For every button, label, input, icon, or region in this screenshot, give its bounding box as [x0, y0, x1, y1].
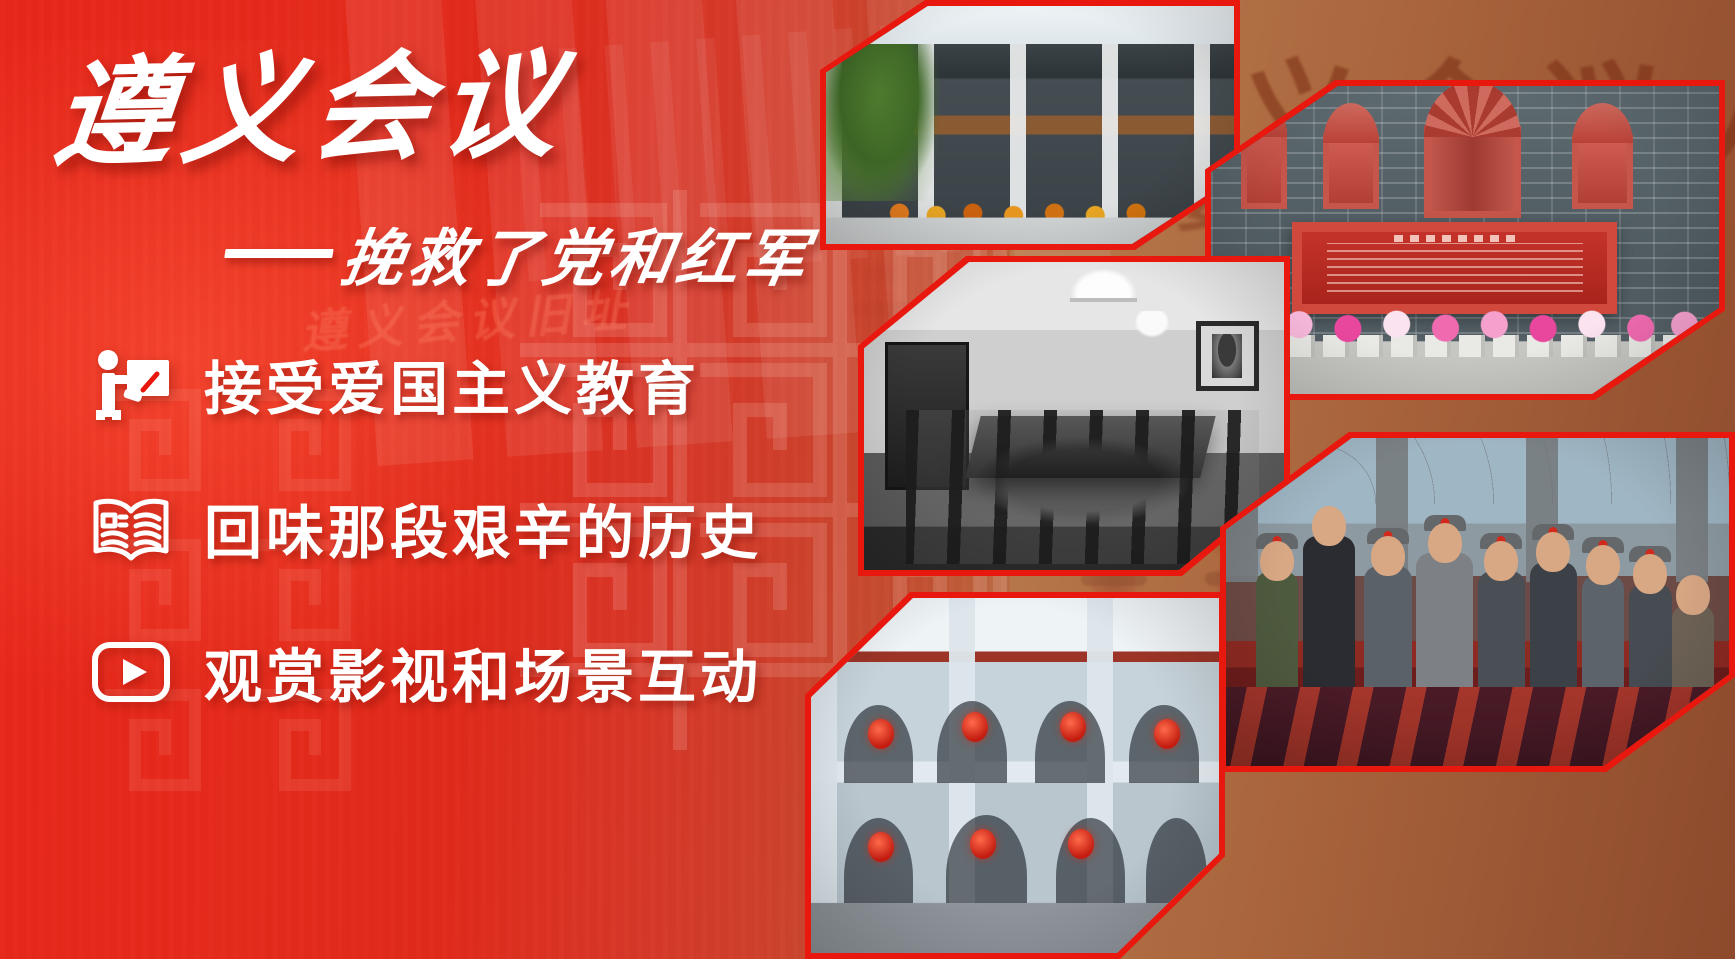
feature-item-education[interactable]: 接受爱国主义教育: [88, 336, 762, 432]
hex-site-courtyard[interactable]: [805, 592, 1225, 959]
feature-item-video[interactable]: 观赏影视和场景互动: [88, 624, 762, 720]
feature-label: 观赏影视和场景互动: [204, 630, 762, 714]
play-video-icon: [88, 633, 174, 711]
subtitle-dash-rule: [224, 249, 333, 258]
banner-subtitle: 挽救了党和红军: [218, 208, 819, 298]
hex-zunyi-conference-site[interactable]: [820, 0, 1240, 250]
feature-item-history[interactable]: 回味那段艰辛的历史: [88, 480, 762, 576]
zunyi-conference-banner: 义会议人 委员 各: [0, 0, 1735, 959]
hex-leaders-painting[interactable]: [1220, 432, 1735, 772]
presenter-board-icon: [88, 345, 174, 423]
feature-list: 接受爱国主义教育: [88, 336, 762, 720]
feature-label: 回味那段艰辛的历史: [204, 486, 762, 570]
feature-label: 接受爱国主义教育: [204, 342, 700, 426]
open-book-icon: [88, 489, 174, 567]
subtitle-text: 挽救了党和红军: [336, 208, 819, 298]
page-title: 遵义会议: [48, 47, 573, 176]
